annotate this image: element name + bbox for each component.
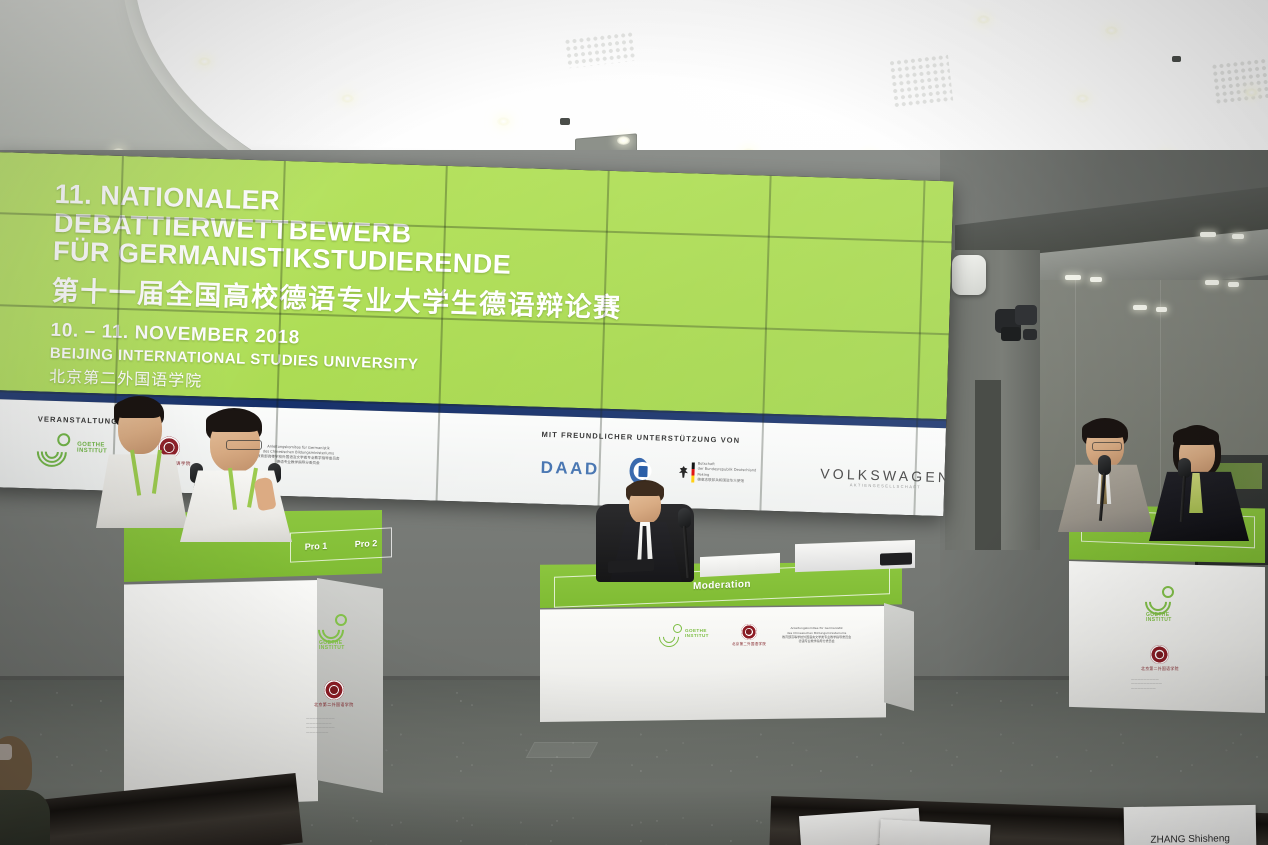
ministry-line-4: 德语专业教学指导分委员会 — [782, 639, 851, 643]
recessed-strip-light — [1133, 305, 1147, 310]
pro-speaker-1-shirt — [96, 448, 188, 528]
ceiling-downlight — [977, 15, 990, 24]
supporter-label: MIT FREUNDLICHER UNTERSTÜTZUNG VON — [541, 430, 740, 445]
ceiling-sensor-icon — [1172, 56, 1181, 62]
pro-speaker-1 — [100, 398, 180, 518]
university-seal-caption: 北京第二外国语学院 — [314, 702, 354, 708]
podium-fineprint: ————————————————————————————————— — [306, 716, 335, 735]
ceiling-downlight — [198, 57, 211, 66]
eyeglasses-icon — [0, 744, 12, 760]
ceiling-downlight — [617, 136, 630, 145]
glasses-icon — [226, 440, 262, 450]
moderator-device — [608, 559, 654, 573]
pro-speaker-2 — [190, 412, 282, 532]
recessed-strip-light — [1065, 275, 1081, 280]
pro-podium: Pro 1 Pro 2 GOETHE INSTITUT 北京第二外国语学院 ——… — [118, 498, 386, 808]
daad-logo: DAAD — [540, 457, 600, 479]
university-seal-logo: 北京第二外国语学院 — [314, 680, 354, 708]
ceiling-perforation-panel — [1211, 57, 1268, 105]
recessed-strip-light — [1090, 277, 1102, 282]
ceiling-downlight — [1076, 94, 1089, 103]
ceiling-perforation-panel — [564, 31, 637, 69]
ceiling-downlight — [341, 94, 354, 103]
foreground-audience-member — [0, 736, 58, 845]
recessed-strip-light — [1228, 282, 1239, 287]
wall-speaker-icon — [952, 255, 986, 295]
pillar-dark-strip — [975, 380, 1001, 550]
goethe-logo-line-2: INSTITUT — [1146, 617, 1172, 623]
floor-service-hatch — [526, 742, 599, 758]
ceiling-downlight — [1245, 88, 1258, 97]
recessed-strip-light — [1156, 307, 1167, 312]
glasses-icon — [1092, 442, 1122, 451]
recessed-strip-light — [1205, 280, 1219, 285]
goethe-institut-logo: GOETHE INSTITUT — [316, 613, 362, 657]
recessed-strip-light — [1232, 234, 1244, 239]
ceiling-sensor-icon — [560, 118, 570, 125]
goethe-institut-logo: GOETHE INSTITUT — [658, 624, 716, 646]
goethe-logo-line-2: INSTITUT — [319, 645, 345, 651]
ministry-committee-text: Anleitungskomitee für Germanistik des Ch… — [782, 626, 851, 643]
goethe-logo-line-2: INSTITUT — [685, 633, 709, 638]
pro-slot-1-label: Pro 1 — [305, 541, 328, 552]
volkswagen-logo: VOLKSWAGEN AKTIENGESELLSCHAFT — [820, 465, 952, 490]
pro-podium-nameplate: Pro 1 Pro 2 — [290, 527, 392, 562]
contra-podium-front — [1069, 561, 1265, 713]
university-seal-logo: 北京第二外国语学院 — [732, 624, 766, 646]
organiser-logo-row: GOETHE INSTITUT 北京第二外国语学院 Anleitungskomi… — [34, 430, 340, 473]
moderation-logo-row: GOETHE INSTITUT 北京第二外国语学院 Anleitungskomi… — [658, 624, 851, 646]
university-seal-logo: 北京第二外国语学院 — [1141, 645, 1179, 672]
pro-slot-2-label: Pro 2 — [355, 538, 378, 549]
jury-name-card-text: ZHANG Shisheng — [1150, 833, 1230, 845]
embassy-line-4: 德意志联邦共和国驻华大使馆 — [697, 477, 756, 484]
ceiling-perforation-panel — [888, 53, 953, 107]
jury-name-card: ZHANG Shisheng — [1124, 805, 1257, 845]
university-seal-caption: 北京第二外国语学院 — [732, 641, 766, 646]
foreground-audience-shoulders — [0, 790, 50, 845]
moderation-desk-side — [884, 603, 914, 711]
contra-speaker-2 — [1155, 425, 1243, 525]
university-seal-caption: 北京第二外国语学院 — [1141, 666, 1179, 672]
ceiling-downlight — [497, 117, 510, 126]
moderation-label: Moderation — [693, 579, 751, 592]
podium-fineprint: ——————————————————————————— — [1131, 677, 1162, 690]
moderation-desk-device — [880, 552, 912, 565]
recessed-strip-light — [1200, 232, 1216, 237]
goethe-institut-logo: GOETHE INSTITUT — [1143, 585, 1189, 629]
security-camera-icon — [995, 305, 1043, 341]
debate-hall-photo: 11. NATIONALER DEBATTIERWETTBEWERB FÜR G… — [0, 0, 1268, 845]
moderator-papers — [700, 553, 780, 577]
ceiling-downlight — [1105, 26, 1118, 35]
video-wall-headline-block: 11. NATIONALER DEBATTIERWETTBEWERB FÜR G… — [49, 180, 935, 414]
